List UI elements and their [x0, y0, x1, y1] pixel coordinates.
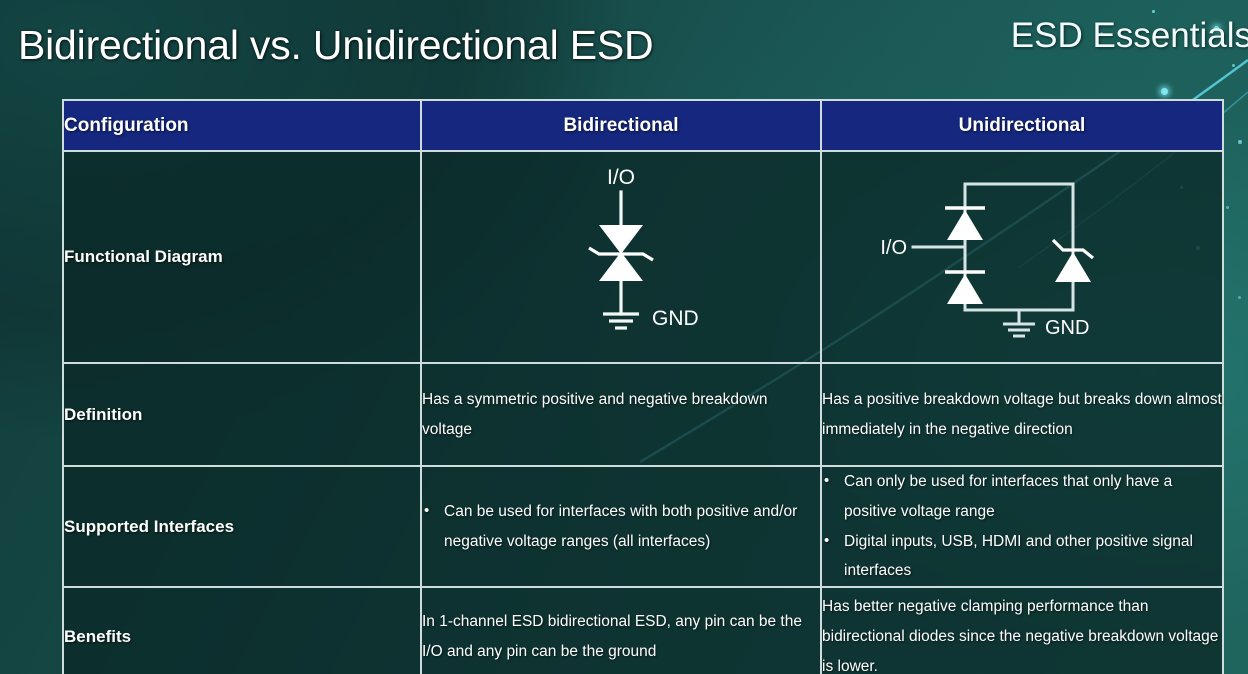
table-header-row: Configuration Bidirectional Unidirection… — [63, 100, 1223, 151]
particle-dot — [1238, 140, 1242, 144]
table-row-benefits: Benefits In 1-channel ESD bidirectional … — [63, 587, 1223, 674]
cell-interfaces-unidirectional: Can only be used for interfaces that onl… — [821, 466, 1223, 587]
cell-benefits-bidirectional: In 1-channel ESD bidirectional ESD, any … — [421, 587, 821, 674]
table-body: Functional Diagram — [63, 151, 1223, 674]
particle-dot — [1232, 64, 1235, 67]
cell-interfaces-bidirectional: Can be used for interfaces with both pos… — [421, 466, 821, 587]
list-item: Digital inputs, USB, HDMI and other posi… — [822, 527, 1222, 587]
io-label: I/O — [607, 166, 635, 189]
list-item: Can only be used for interfaces that onl… — [822, 467, 1222, 527]
table-header: Configuration Bidirectional Unidirection… — [63, 100, 1223, 151]
header-configuration: Configuration — [63, 100, 421, 151]
unidirectional-esd-schematic: I/O GND — [877, 162, 1167, 352]
particle-dot — [1161, 88, 1168, 95]
table-row-supported-interfaces: Supported Interfaces Can be used for int… — [63, 466, 1223, 587]
cell-bidirectional-diagram: I/O GND — [421, 151, 821, 363]
table-row-definition: Definition Has a symmetric positive and … — [63, 363, 1223, 466]
row-label-definition: Definition — [63, 363, 421, 466]
comparison-table: Configuration Bidirectional Unidirection… — [62, 99, 1224, 674]
row-label-benefits: Benefits — [63, 587, 421, 674]
cell-unidirectional-diagram: I/O GND — [821, 151, 1223, 363]
gnd-label: GND — [1045, 317, 1089, 339]
particle-dot — [1238, 296, 1241, 299]
slide-canvas: Bidirectional vs. Unidirectional ESD ESD… — [0, 0, 1248, 674]
particle-dot — [1152, 10, 1155, 13]
page-title: Bidirectional vs. Unidirectional ESD — [18, 22, 653, 69]
header-unidirectional: Unidirectional — [821, 100, 1223, 151]
particle-dot — [1226, 206, 1229, 209]
bidirectional-tvs-diode-schematic: I/O GND — [506, 162, 736, 352]
table-row-functional-diagram: Functional Diagram — [63, 151, 1223, 363]
cell-definition-unidirectional: Has a positive breakdown voltage but bre… — [821, 363, 1223, 466]
bullet-list: Can only be used for interfaces that onl… — [822, 467, 1222, 586]
list-item: Can be used for interfaces with both pos… — [422, 497, 820, 557]
series-subtitle: ESD Essentials — [1011, 16, 1248, 56]
bullet-list: Can be used for interfaces with both pos… — [422, 497, 820, 557]
cell-benefits-unidirectional: Has better negative clamping performance… — [821, 587, 1223, 674]
header-bidirectional: Bidirectional — [421, 100, 821, 151]
row-label-functional-diagram: Functional Diagram — [63, 151, 421, 363]
gnd-label: GND — [652, 307, 699, 330]
io-label: I/O — [880, 237, 907, 259]
cell-definition-bidirectional: Has a symmetric positive and negative br… — [421, 363, 821, 466]
comparison-table-wrapper: Configuration Bidirectional Unidirection… — [62, 99, 1222, 664]
row-label-supported-interfaces: Supported Interfaces — [63, 466, 421, 587]
